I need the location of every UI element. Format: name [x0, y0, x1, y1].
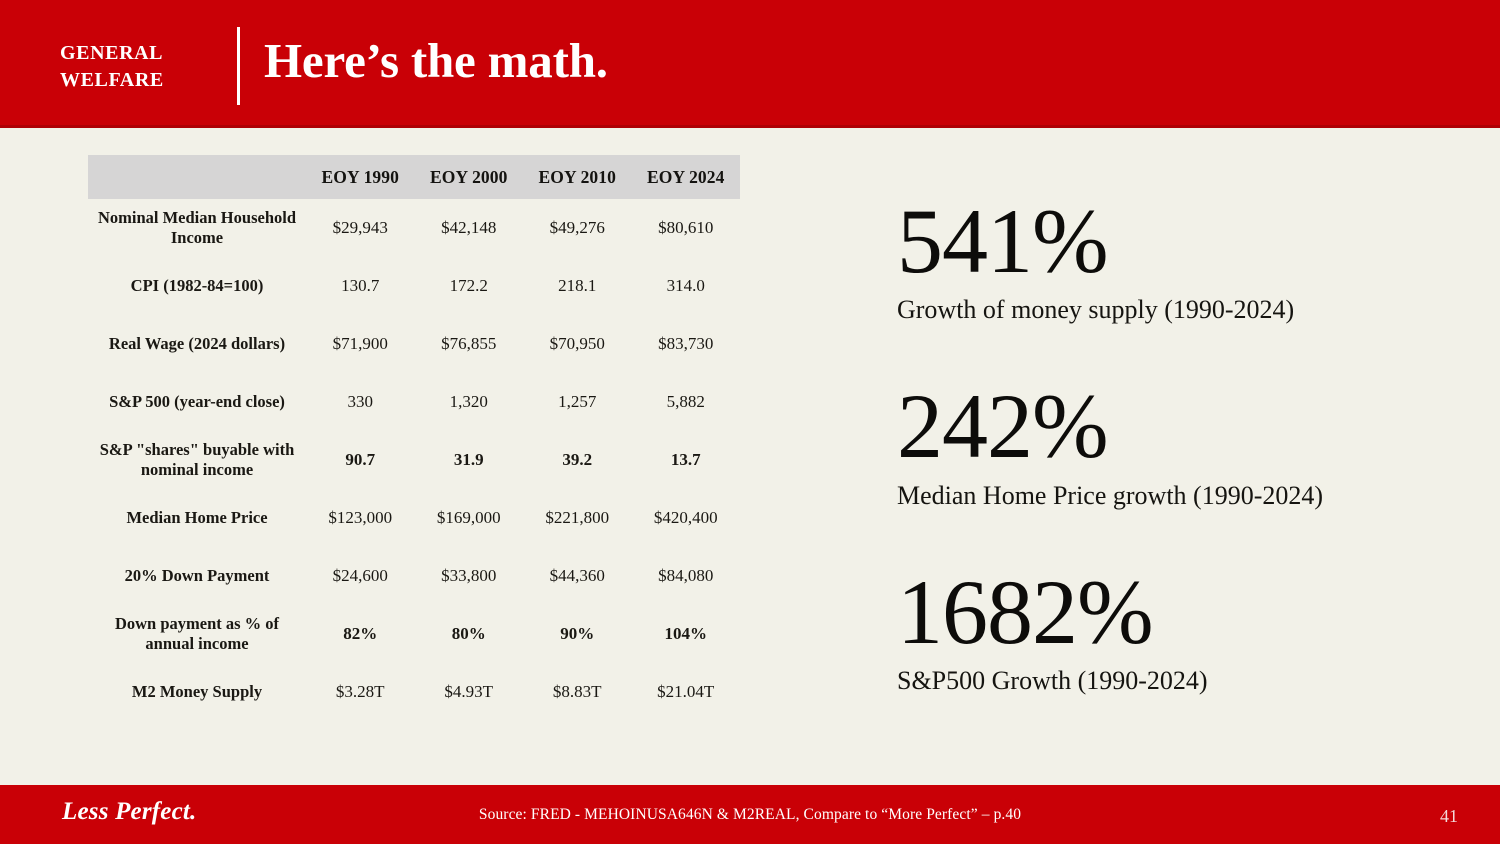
table-row: S&P "shares" buyable with nominal income… [88, 431, 740, 489]
cell-value: 90.7 [306, 431, 415, 489]
table-row: S&P 500 (year-end close) 330 1,320 1,257… [88, 373, 740, 431]
row-label: 20% Down Payment [88, 547, 306, 605]
cell-value: $70,950 [523, 315, 632, 373]
page-title: Here’s the math. [264, 34, 608, 88]
stat-highlights: 541% Growth of money supply (1990-2024) … [897, 196, 1457, 696]
cell-value: 5,882 [632, 373, 741, 431]
cell-value: 1,320 [415, 373, 524, 431]
cell-value: $71,900 [306, 315, 415, 373]
cell-value: $169,000 [415, 489, 524, 547]
cell-value: 314.0 [632, 257, 741, 315]
table-row: CPI (1982-84=100) 130.7 172.2 218.1 314.… [88, 257, 740, 315]
cell-value: $83,730 [632, 315, 741, 373]
table-row: Real Wage (2024 dollars) $71,900 $76,855… [88, 315, 740, 373]
stat-caption: Growth of money supply (1990-2024) [897, 294, 1457, 325]
cell-value: $3.28T [306, 663, 415, 721]
source-citation: Source: FRED - MEHOINUSA646N & M2REAL, C… [0, 806, 1500, 824]
cell-value: 39.2 [523, 431, 632, 489]
column-header-eoy-1990: EOY 1990 [306, 155, 415, 199]
row-label: Real Wage (2024 dollars) [88, 315, 306, 373]
cell-value: 130.7 [306, 257, 415, 315]
cell-value: $21.04T [632, 663, 741, 721]
stat-number: 1682% [897, 567, 1457, 657]
table-body: Nominal Median Household Income $29,943 … [88, 199, 740, 721]
cell-value: $42,148 [415, 199, 524, 257]
page-number: 41 [1440, 806, 1458, 827]
cell-value: $49,276 [523, 199, 632, 257]
table-row: M2 Money Supply $3.28T $4.93T $8.83T $21… [88, 663, 740, 721]
math-table-container: EOY 1990 EOY 2000 EOY 2010 EOY 2024 Nomi… [88, 155, 740, 721]
row-label: Median Home Price [88, 489, 306, 547]
column-header-eoy-2010: EOY 2010 [523, 155, 632, 199]
column-header-eoy-2024: EOY 2024 [632, 155, 741, 199]
cell-value: $29,943 [306, 199, 415, 257]
table-row: Median Home Price $123,000 $169,000 $221… [88, 489, 740, 547]
cell-value: $24,600 [306, 547, 415, 605]
cell-value: 82% [306, 605, 415, 663]
stat-caption: S&P500 Growth (1990-2024) [897, 665, 1457, 696]
stat-number: 242% [897, 381, 1457, 471]
table-row: Down payment as % of annual income 82% 8… [88, 605, 740, 663]
table-header: EOY 1990 EOY 2000 EOY 2010 EOY 2024 [88, 155, 740, 199]
cell-value: 330 [306, 373, 415, 431]
cell-value: $8.83T [523, 663, 632, 721]
row-label: Down payment as % of annual income [88, 605, 306, 663]
cell-value: 172.2 [415, 257, 524, 315]
section-eyebrow: GENERAL WELFARE [60, 40, 230, 94]
row-label: S&P "shares" buyable with nominal income [88, 431, 306, 489]
cell-value: 104% [632, 605, 741, 663]
cell-value: 90% [523, 605, 632, 663]
cell-value: 80% [415, 605, 524, 663]
stat-block-sp500: 1682% S&P500 Growth (1990-2024) [897, 567, 1457, 696]
cell-value: 31.9 [415, 431, 524, 489]
math-table: EOY 1990 EOY 2000 EOY 2010 EOY 2024 Nomi… [88, 155, 740, 721]
stat-number: 541% [897, 196, 1457, 286]
stat-block-money-supply: 541% Growth of money supply (1990-2024) [897, 196, 1457, 325]
table-row: 20% Down Payment $24,600 $33,800 $44,360… [88, 547, 740, 605]
cell-value: $4.93T [415, 663, 524, 721]
cell-value: $33,800 [415, 547, 524, 605]
cell-value: $221,800 [523, 489, 632, 547]
cell-value: $44,360 [523, 547, 632, 605]
stat-caption: Median Home Price growth (1990-2024) [897, 480, 1457, 511]
cell-value: $420,400 [632, 489, 741, 547]
column-header-eoy-2000: EOY 2000 [415, 155, 524, 199]
stat-block-home-price: 242% Median Home Price growth (1990-2024… [897, 381, 1457, 510]
cell-value: $84,080 [632, 547, 741, 605]
header-divider-rule [237, 27, 240, 105]
section-eyebrow-line-1: GENERAL [60, 40, 230, 67]
row-label: S&P 500 (year-end close) [88, 373, 306, 431]
cell-value: 218.1 [523, 257, 632, 315]
cell-value: 13.7 [632, 431, 741, 489]
cell-value: $123,000 [306, 489, 415, 547]
section-eyebrow-line-2: WELFARE [60, 67, 230, 94]
row-label: Nominal Median Household Income [88, 199, 306, 257]
cell-value: $76,855 [415, 315, 524, 373]
cell-value: 1,257 [523, 373, 632, 431]
row-label: M2 Money Supply [88, 663, 306, 721]
table-row: Nominal Median Household Income $29,943 … [88, 199, 740, 257]
column-header-blank [88, 155, 306, 199]
cell-value: $80,610 [632, 199, 741, 257]
table-header-row: EOY 1990 EOY 2000 EOY 2010 EOY 2024 [88, 155, 740, 199]
row-label: CPI (1982-84=100) [88, 257, 306, 315]
